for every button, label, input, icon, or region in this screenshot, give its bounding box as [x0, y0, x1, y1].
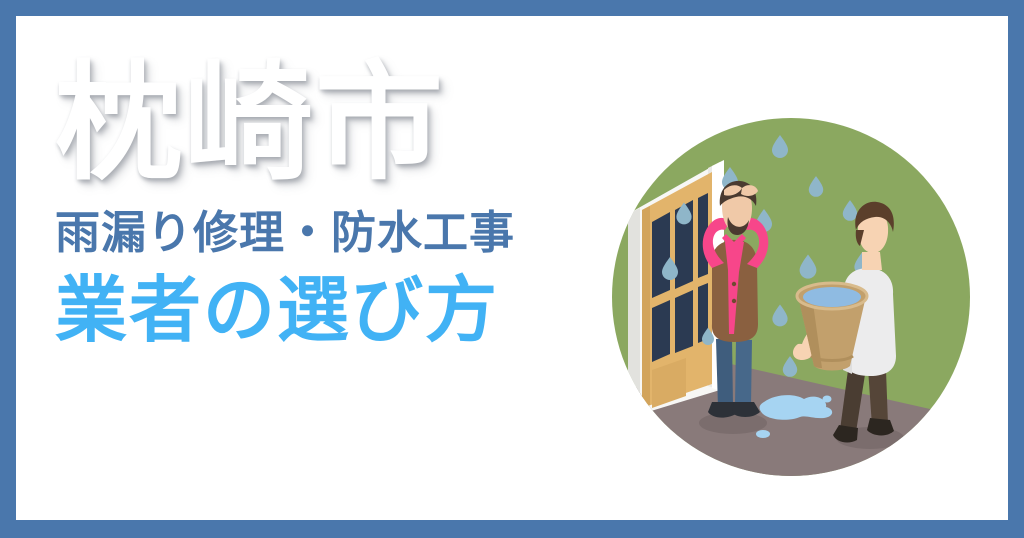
door-frame-outer-shadow	[628, 208, 640, 418]
door-glass-pane	[675, 290, 693, 353]
city-title: 枕崎市	[55, 60, 630, 188]
button	[732, 282, 736, 286]
door-panel-shade	[642, 206, 650, 408]
collar	[862, 252, 882, 270]
shoe	[708, 402, 736, 418]
banner: 枕崎市 雨漏り修理・防水工事 業者の選び方	[0, 0, 1024, 538]
right-leg	[735, 339, 752, 406]
headline: 業者の選び方	[55, 275, 630, 347]
text-block: 枕崎市 雨漏り修理・防水工事 業者の選び方	[55, 60, 630, 460]
banner-inner-panel: 枕崎市 雨漏り修理・防水工事 業者の選び方	[16, 16, 1008, 520]
door-glass-pane	[652, 212, 670, 298]
leaking-roof-illustration	[612, 118, 970, 476]
bucket-water	[803, 287, 861, 307]
puddle-droplet	[823, 396, 832, 403]
door-glass-pane	[652, 300, 670, 362]
service-subtitle: 雨漏り修理・防水工事	[55, 210, 630, 255]
shoe	[867, 418, 894, 435]
puddle-droplet	[756, 430, 770, 438]
button	[732, 299, 736, 303]
left-leg	[716, 338, 733, 408]
